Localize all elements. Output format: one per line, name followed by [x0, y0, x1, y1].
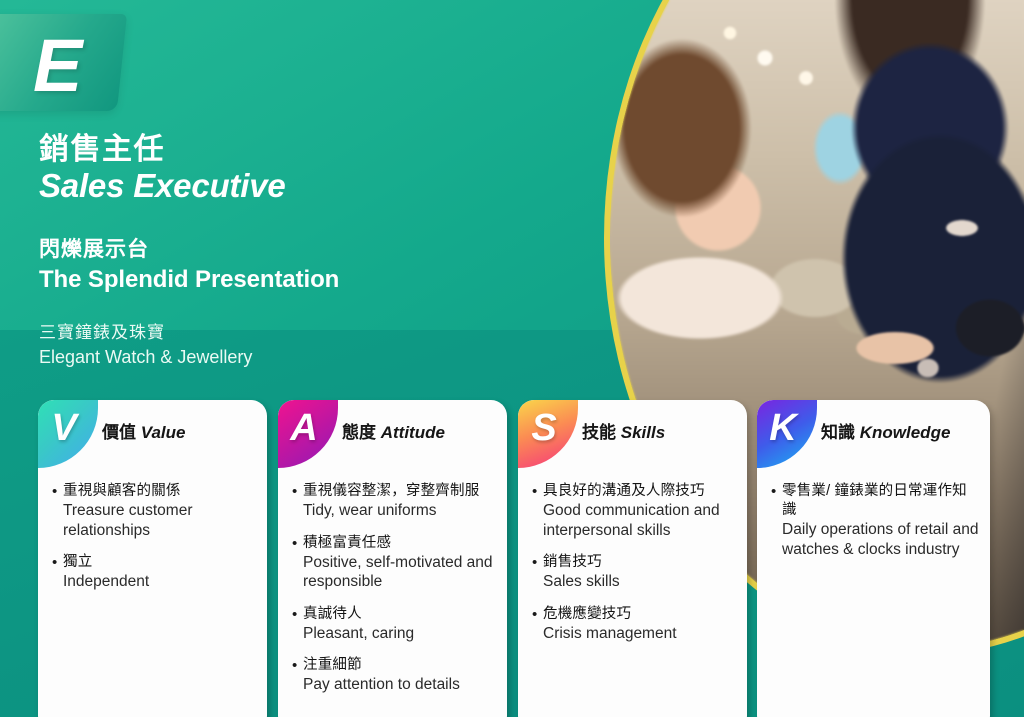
brand-logo-letter: E	[33, 29, 81, 103]
list-item: • 重視儀容整潔，穿整齊制服 Tidy, wear uniforms	[292, 482, 497, 521]
card-value[interactable]: V 價值 Value • 重視與顧客的關係 Treasure customer …	[38, 400, 267, 717]
bullet-en: Positive, self-motivated and responsible	[303, 554, 493, 591]
bullet-dot-icon: •	[292, 534, 303, 592]
card-title-en: Knowledge	[860, 423, 951, 442]
list-item: • 重視與顧客的關係 Treasure customer relationshi…	[52, 482, 257, 540]
bullet-dot-icon: •	[532, 605, 543, 644]
card-title-en: Attitude	[381, 423, 445, 442]
bullet-zh: 注重細節	[303, 657, 362, 673]
bullet-dot-icon: •	[52, 482, 63, 540]
bullet-en: Sales skills	[543, 573, 620, 590]
vask-card-list: V 價值 Value • 重視與顧客的關係 Treasure customer …	[0, 400, 1024, 717]
list-item: • 獨立 Independent	[52, 553, 257, 592]
card-bullets-attitude: • 重視儀容整潔，穿整齊制服 Tidy, wear uniforms • 積極富…	[292, 482, 497, 708]
bullet-dot-icon: •	[52, 553, 63, 592]
bullet-zh: 重視儀容整潔，穿整齊制服	[303, 483, 479, 499]
card-bullets-knowledge: • 零售業/ 鐘錶業的日常運作知識 Daily operations of re…	[771, 482, 980, 572]
bullet-dot-icon: •	[532, 553, 543, 592]
page-subtitle: 閃爍展示台 The Splendid Presentation	[39, 236, 599, 296]
bullet-en: Tidy, wear uniforms	[303, 502, 437, 519]
title-chinese: 銷售主任	[39, 132, 599, 168]
org-chinese: 三寶鐘錶及珠寶	[39, 321, 599, 345]
card-title-knowledge: 知識 Knowledge	[821, 422, 982, 444]
page-title: 銷售主任 Sales Executive	[39, 132, 599, 206]
badge-letter-knowledge: K	[757, 400, 809, 456]
list-item: • 銷售技巧 Sales skills	[532, 553, 737, 592]
bullet-dot-icon: •	[292, 482, 303, 521]
card-skills[interactable]: S 技能 Skills • 具良好的溝通及人際技巧 Good communica…	[518, 400, 747, 717]
card-title-zh: 態度	[342, 423, 376, 442]
card-title-zh: 知識	[821, 423, 855, 442]
bullet-en: Pleasant, caring	[303, 625, 414, 642]
card-knowledge[interactable]: K 知識 Knowledge • 零售業/ 鐘錶業的日常運作知識 Daily o…	[757, 400, 990, 717]
list-item: • 具良好的溝通及人際技巧 Good communication and int…	[532, 482, 737, 540]
card-title-zh: 價值	[102, 423, 136, 442]
bullet-en: Daily operations of retail and watches &…	[782, 521, 978, 558]
bullet-dot-icon: •	[771, 482, 782, 559]
bullet-en: Good communication and interpersonal ski…	[543, 502, 720, 539]
card-title-skills: 技能 Skills	[582, 422, 739, 444]
org-english: Elegant Watch & Jewellery	[39, 345, 599, 370]
list-item: • 真誠待人 Pleasant, caring	[292, 605, 497, 644]
subtitle-english: The Splendid Presentation	[39, 264, 599, 296]
subtitle-chinese: 閃爍展示台	[39, 236, 599, 264]
badge-letter-attitude: A	[278, 400, 330, 456]
card-bullets-value: • 重視與顧客的關係 Treasure customer relationshi…	[52, 482, 257, 605]
bullet-en: Independent	[63, 573, 149, 590]
title-english: Sales Executive	[39, 166, 599, 206]
list-item: • 危機應變技巧 Crisis management	[532, 605, 737, 644]
bullet-zh: 銷售技巧	[543, 554, 602, 570]
list-item: • 注重細節 Pay attention to details	[292, 656, 497, 695]
organization-name: 三寶鐘錶及珠寶 Elegant Watch & Jewellery	[39, 321, 599, 370]
bullet-zh: 具良好的溝通及人際技巧	[543, 483, 705, 499]
bullet-en: Treasure customer relationships	[63, 502, 193, 539]
poster-canvas: E 銷售主任 Sales Executive 閃爍展示台 The Splendi…	[0, 0, 1024, 717]
bullet-dot-icon: •	[292, 605, 303, 644]
card-title-zh: 技能	[582, 423, 616, 442]
list-item: • 積極富責任感 Positive, self-motivated and re…	[292, 534, 497, 592]
bullet-dot-icon: •	[532, 482, 543, 540]
card-bullets-skills: • 具良好的溝通及人際技巧 Good communication and int…	[532, 482, 737, 656]
badge-letter-value: V	[38, 400, 90, 456]
bullet-zh: 真誠待人	[303, 606, 362, 622]
bullet-en: Pay attention to details	[303, 676, 460, 693]
card-title-attitude: 態度 Attitude	[342, 422, 499, 444]
bullet-zh: 危機應變技巧	[543, 606, 631, 622]
card-title-en: Value	[141, 423, 186, 442]
card-title-en: Skills	[621, 423, 665, 442]
bullet-dot-icon: •	[292, 656, 303, 695]
card-attitude[interactable]: A 態度 Attitude • 重視儀容整潔，穿整齊制服 Tidy, wear …	[278, 400, 507, 717]
bullet-zh: 重視與顧客的關係	[63, 483, 181, 499]
bullet-en: Crisis management	[543, 625, 677, 642]
bullet-zh: 獨立	[63, 554, 92, 570]
bullet-zh: 積極富責任感	[303, 535, 391, 551]
bullet-zh: 零售業/ 鐘錶業的日常運作知識	[782, 483, 967, 518]
card-title-value: 價值 Value	[102, 422, 259, 444]
badge-letter-skills: S	[518, 400, 570, 456]
list-item: • 零售業/ 鐘錶業的日常運作知識 Daily operations of re…	[771, 482, 980, 559]
